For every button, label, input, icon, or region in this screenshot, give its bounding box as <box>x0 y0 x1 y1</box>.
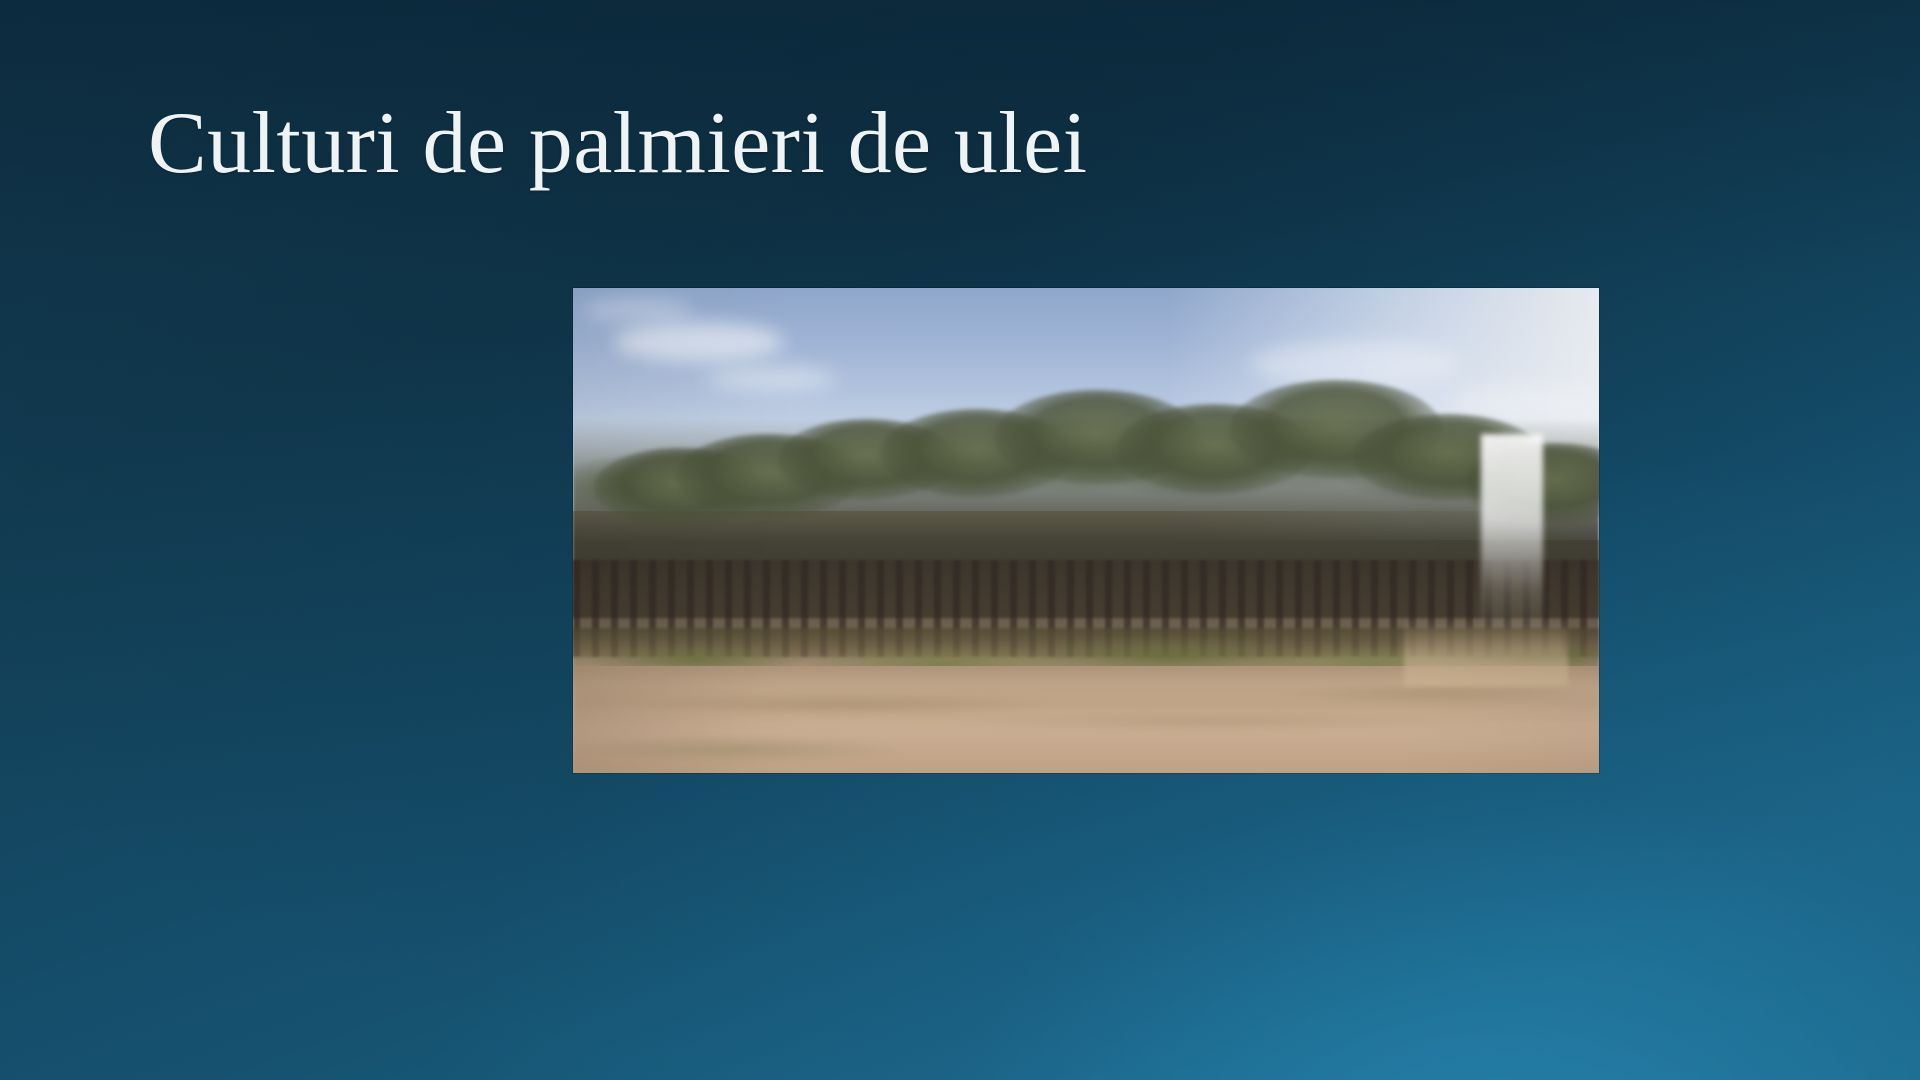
presentation-slide: Culturi de palmieri de ulei <box>0 0 1920 1080</box>
palm-plantation-photo <box>573 288 1599 773</box>
photo-edge-shading <box>573 288 1599 773</box>
slide-picture[interactable] <box>573 288 1599 773</box>
slide-title: Culturi de palmieri de ulei <box>148 96 1748 191</box>
